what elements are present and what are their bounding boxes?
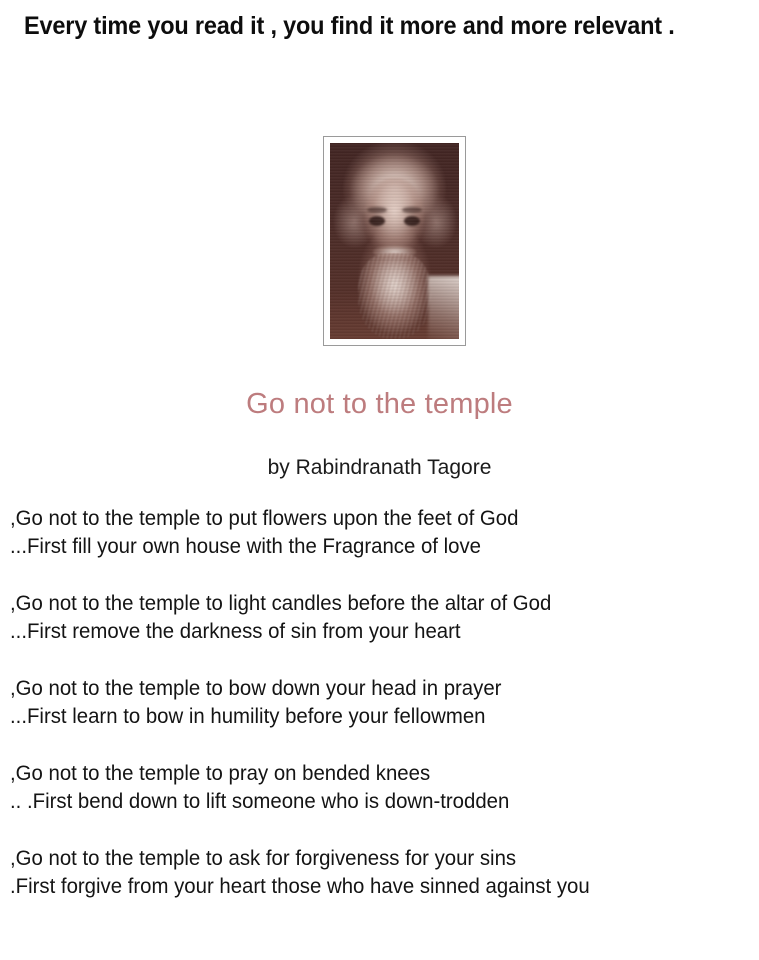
- poem-byline: by Rabindranath Tagore: [0, 456, 759, 480]
- poem-stanza: ,Go not to the temple to light candles b…: [10, 590, 755, 646]
- poem-stanza: ,Go not to the temple to put flowers upo…: [10, 505, 755, 561]
- tagore-portrait-image: [330, 143, 459, 339]
- poem-stanza: ,Go not to the temple to ask for forgive…: [10, 845, 755, 901]
- portrait-robe: [428, 276, 459, 339]
- portrait-frame: [323, 136, 466, 346]
- poem-line: ,Go not to the temple to ask for forgive…: [10, 845, 733, 873]
- poem-line: ...First remove the darkness of sin from…: [10, 618, 733, 646]
- portrait-brow-right: [402, 207, 421, 213]
- portrait-beard: [358, 253, 430, 339]
- poem-body: ,Go not to the temple to put flowers upo…: [10, 505, 755, 930]
- header-caption: Every time you read it , you find it mor…: [24, 8, 682, 44]
- poem-line: .First forgive from your heart those who…: [10, 873, 733, 901]
- poem-line: .. .First bend down to lift someone who …: [10, 788, 733, 816]
- poem-line: ,Go not to the temple to pray on bended …: [10, 760, 733, 788]
- poem-stanza: ,Go not to the temple to bow down your h…: [10, 675, 755, 731]
- poem-line: ,Go not to the temple to put flowers upo…: [10, 505, 733, 533]
- poem-title: Go not to the temple: [0, 388, 759, 421]
- poem-line: ,Go not to the temple to light candles b…: [10, 590, 733, 618]
- poem-stanza: ,Go not to the temple to pray on bended …: [10, 760, 755, 816]
- portrait-brow-left: [367, 207, 386, 213]
- poem-line: ...First fill your own house with the Fr…: [10, 533, 733, 561]
- poem-line: ,Go not to the temple to bow down your h…: [10, 675, 733, 703]
- poem-line: ...First learn to bow in humility before…: [10, 703, 733, 731]
